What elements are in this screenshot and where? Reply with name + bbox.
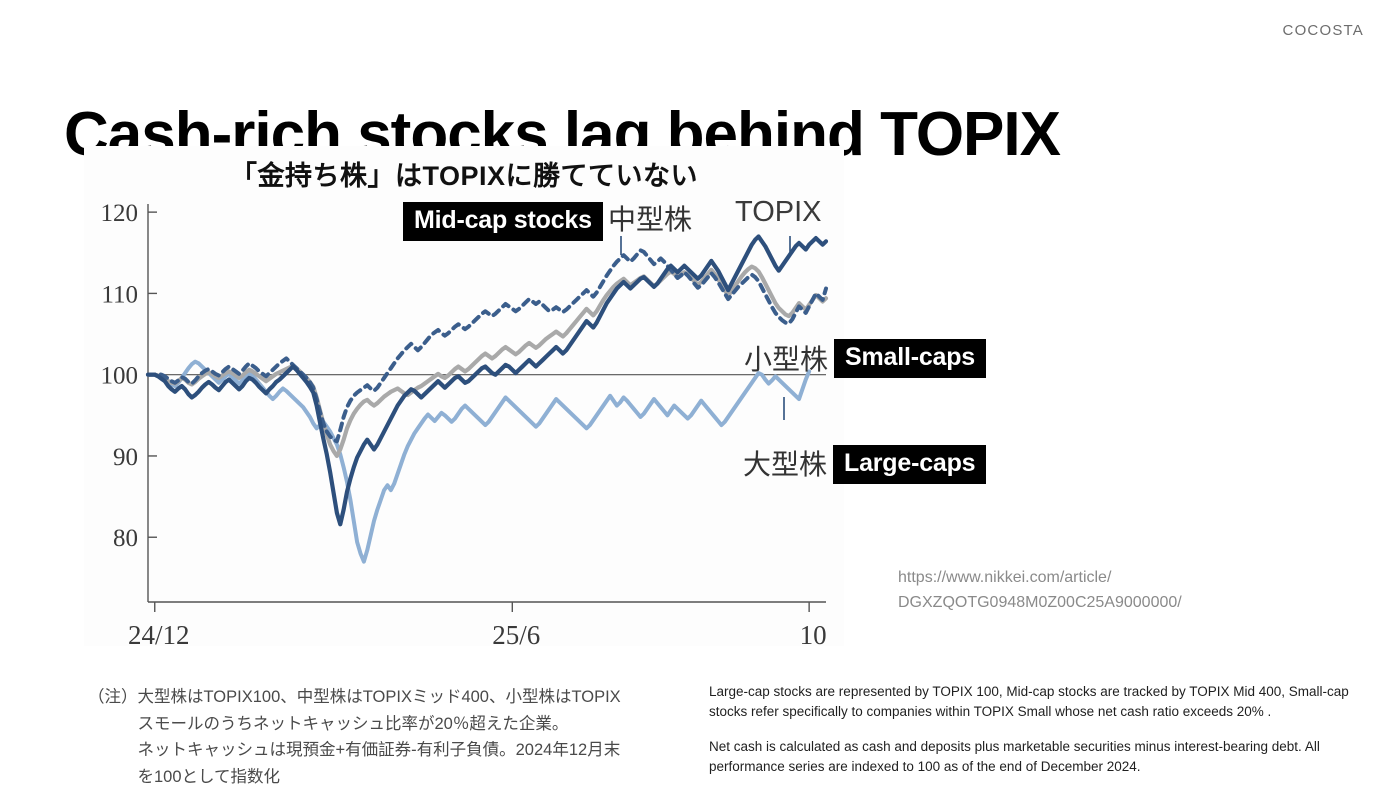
line-chart-svg: 8090100110120 24/1225/610 xyxy=(84,192,844,646)
series-line-large-caps xyxy=(148,362,809,562)
svg-text:24/12: 24/12 xyxy=(128,620,190,646)
chart-leader-lines xyxy=(621,236,790,420)
annotation-smallcap-jp: 小型株 xyxy=(744,338,828,378)
annotation-midcap-jp: 中型株 xyxy=(608,198,692,238)
chart-axes xyxy=(148,204,826,612)
annotation-largecap-en: Large-caps xyxy=(833,445,986,484)
svg-text:100: 100 xyxy=(101,363,139,390)
svg-text:120: 120 xyxy=(101,200,139,227)
annotation-largecap-jp: 大型株 xyxy=(743,443,827,483)
chart-series-group xyxy=(148,237,826,562)
svg-text:25/6: 25/6 xyxy=(492,620,540,646)
chart-figure: 「金持ち株」はTOPIXに勝てていない 8090100110120 24/122… xyxy=(84,146,844,646)
footnote-english: Large-cap stocks are represented by TOPI… xyxy=(709,682,1389,791)
chart-title-japanese: 「金持ち株」はTOPIXに勝てていない xyxy=(84,154,844,193)
footnote-japanese: （注）大型株はTOPIX100、中型株はTOPIXミッド400、小型株はTOPI… xyxy=(88,684,668,791)
svg-text:80: 80 xyxy=(113,525,138,552)
footnote-english-paragraph-1: Large-cap stocks are represented by TOPI… xyxy=(709,682,1389,723)
brand-wordmark: COCOSTA xyxy=(1283,22,1364,39)
svg-text:90: 90 xyxy=(113,444,138,471)
chart-y-tick-labels: 8090100110120 xyxy=(101,200,139,552)
svg-text:110: 110 xyxy=(101,281,138,308)
footnote-english-paragraph-2: Net cash is calculated as cash and depos… xyxy=(709,737,1389,778)
source-url: https://www.nikkei.com/article/ DGXZQOTG… xyxy=(898,566,1182,616)
annotation-smallcap-en: Small-caps xyxy=(834,339,986,378)
annotation-midcap-en: Mid-cap stocks xyxy=(403,202,603,241)
chart-x-tick-labels: 24/1225/610 xyxy=(128,620,827,646)
annotation-topix: TOPIX xyxy=(735,196,822,229)
chart-plot-area: 8090100110120 24/1225/610 xyxy=(84,192,844,646)
svg-text:10: 10 xyxy=(800,620,827,646)
series-line-topix xyxy=(148,237,826,525)
